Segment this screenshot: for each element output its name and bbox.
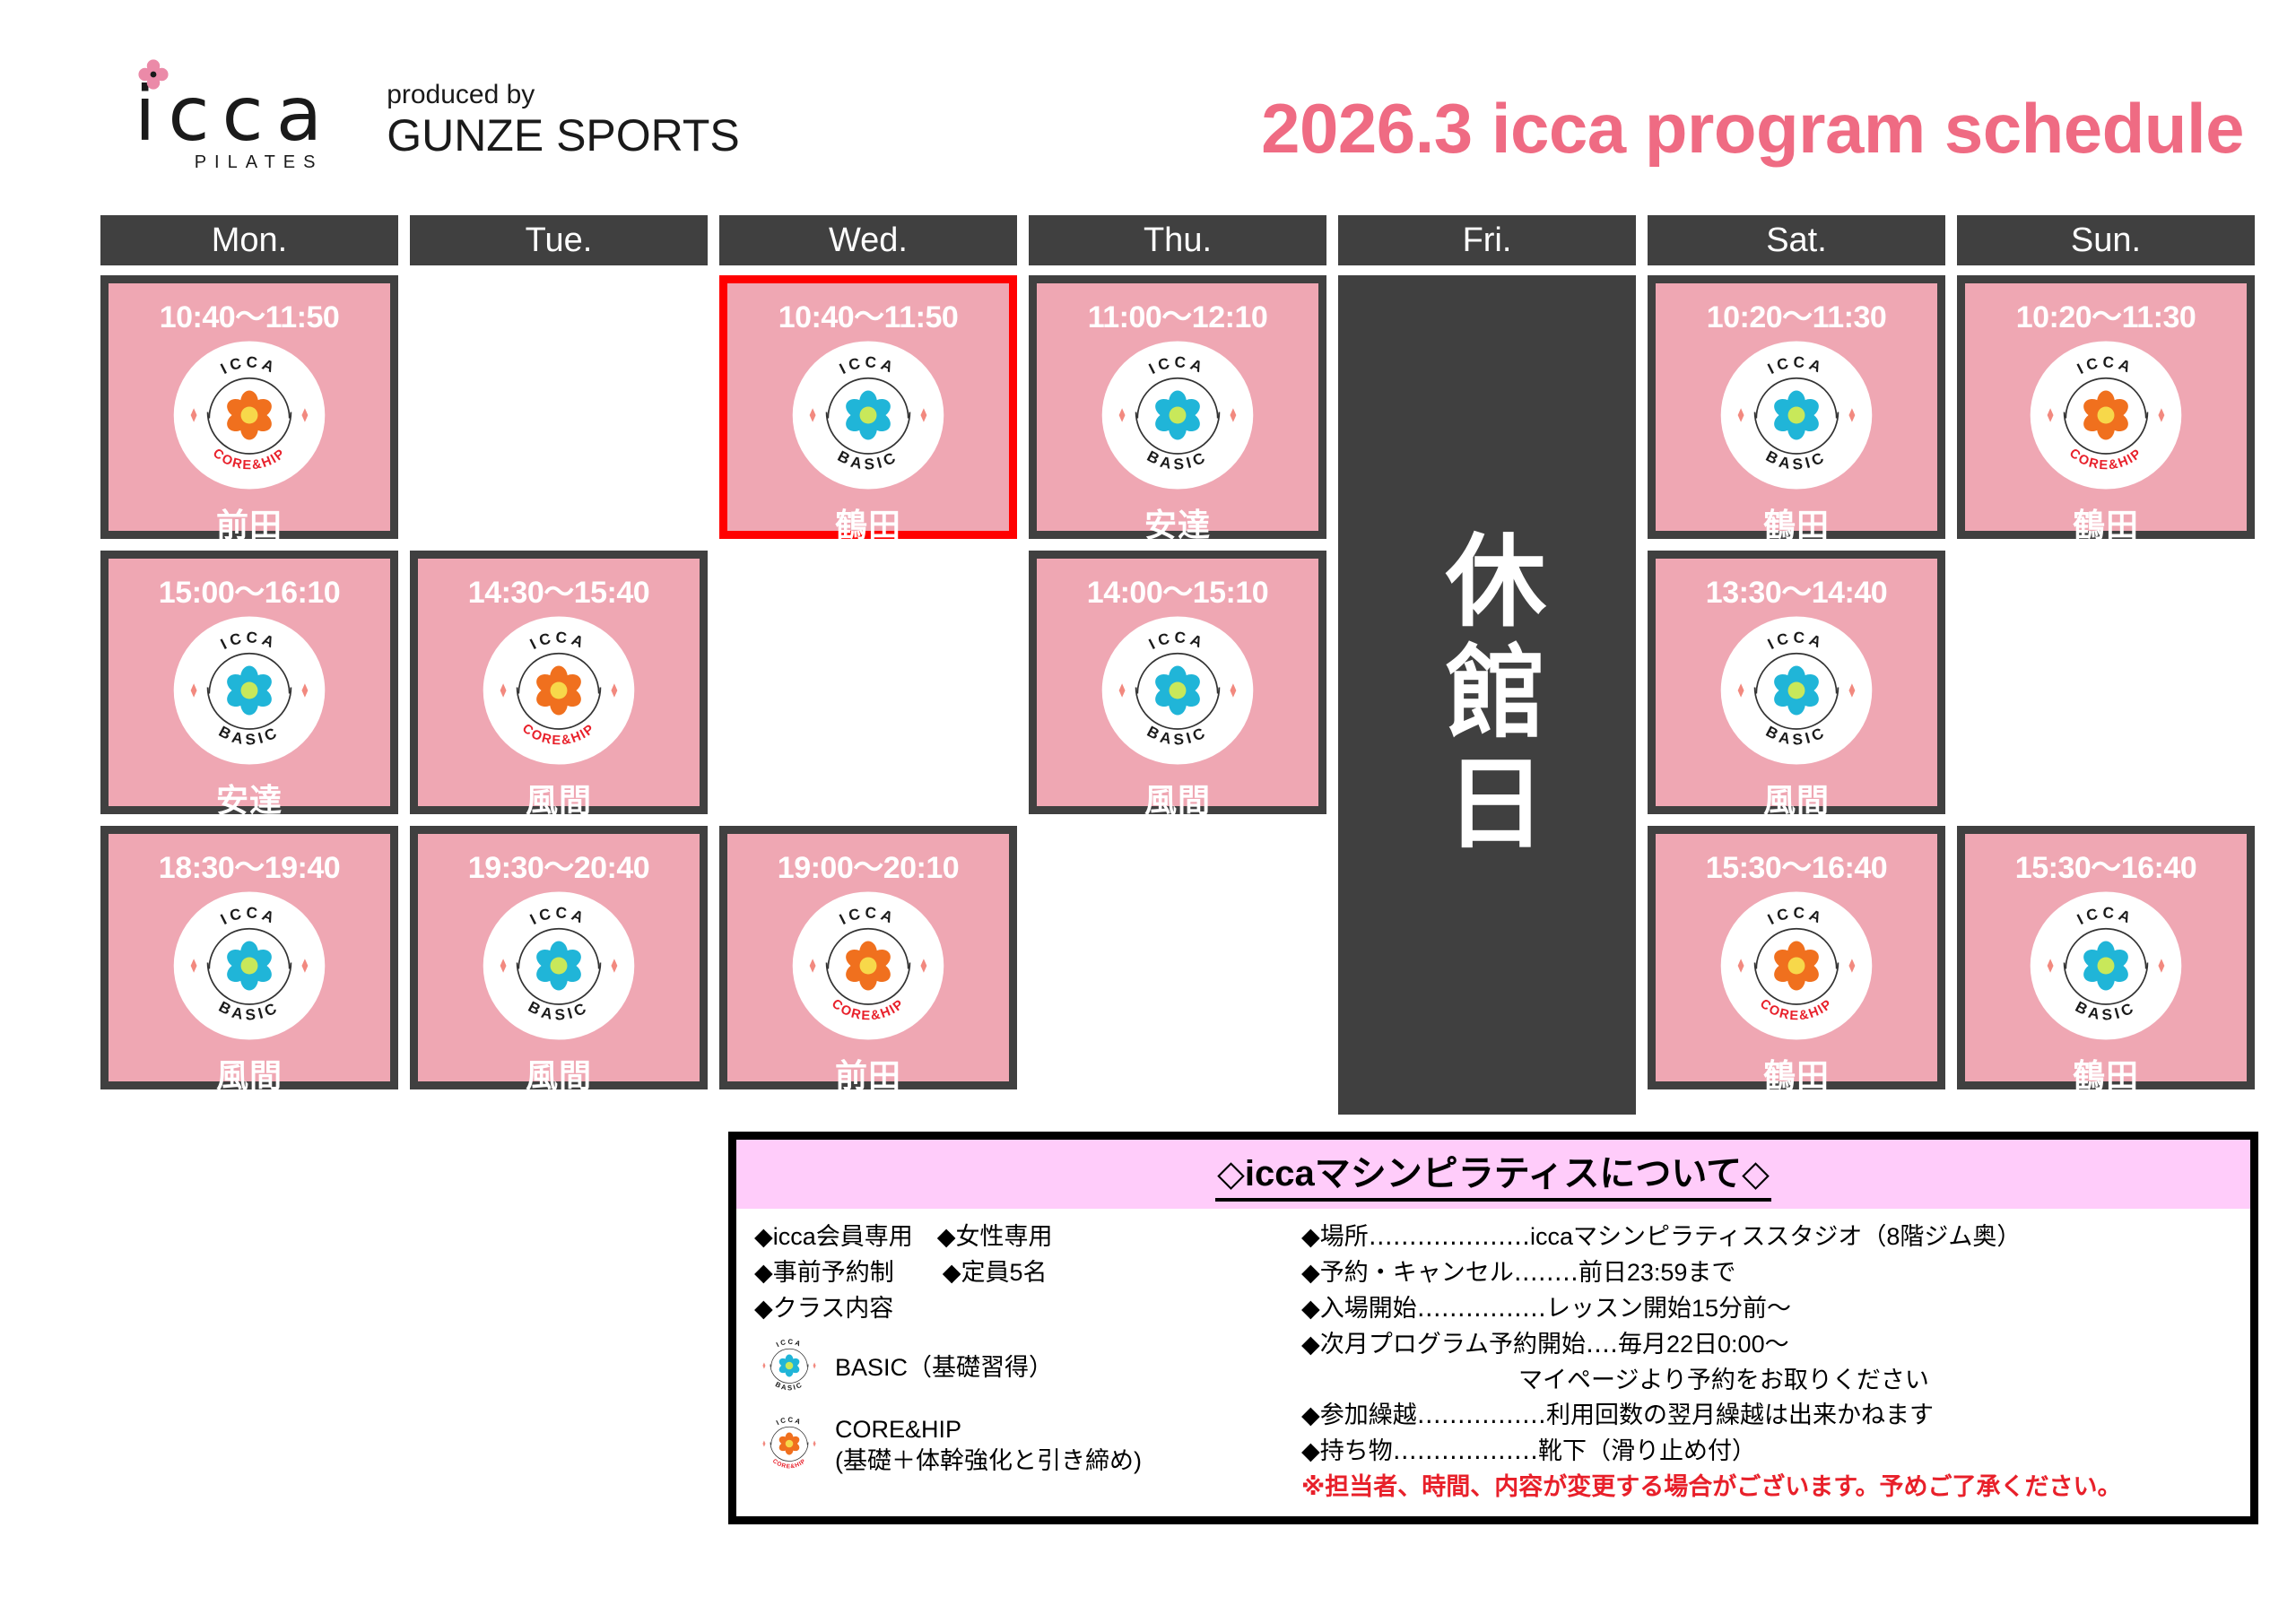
program-badge-basic-icon: ICCA BASIC	[1100, 338, 1255, 497]
class-card-inner: 10:20～11:30 ICCA BASIC 鶴田	[1656, 283, 1937, 531]
program-badge-corehip-icon: ICCA CORE&HIP	[1719, 889, 1874, 1047]
instructor-name: 風間	[1763, 775, 1830, 821]
empty-slot	[1957, 551, 2255, 814]
day-column-tue: Tue.14:30～15:40 ICCA CORE&HIP 風間19:30～20…	[410, 215, 708, 1115]
day-header: Tue.	[410, 215, 708, 265]
class-time: 11:00～12:10	[1088, 292, 1268, 336]
class-time: 10:20～11:30	[1707, 292, 1887, 336]
day-column-sun: Sun.10:20～11:30 ICCA CORE&HIP 鶴田15:30～16…	[1957, 215, 2255, 1115]
class-time: 15:30～16:40	[2015, 843, 2196, 887]
info-warning-note: ※担当者、時間、内容が変更する場合がございます。予めご了承ください。	[1301, 1470, 2250, 1506]
class-time: 15:30～16:40	[1706, 843, 1887, 887]
info-line: ◆参加繰越‥‥‥‥‥‥‥‥利用回数の翌月繰越は出来かねます	[1301, 1398, 2250, 1434]
info-line: ◆持ち物‥‥‥‥‥‥‥‥‥靴下（滑り止め付）	[1301, 1434, 2250, 1470]
class-card[interactable]: 14:30～15:40 ICCA CORE&HIP 風間	[410, 551, 708, 814]
program-badge-corehip-icon: ICCA CORE&HIP	[482, 613, 636, 772]
class-time: 13:30～14:40	[1706, 568, 1887, 612]
class-card[interactable]: 19:00～20:10 ICCA CORE&HIP 前田	[719, 826, 1017, 1089]
day-column-sat: Sat.10:20～11:30 ICCA BASIC 鶴田13:30～14:40…	[1648, 215, 1945, 1115]
class-card-inner: 10:40～11:50 ICCA CORE&HIP 前田	[109, 283, 390, 531]
info-line: ◆事前予約制 ◆定員5名	[754, 1255, 1292, 1291]
legend-badge-corehip-icon: ICCA CORE&HIP	[754, 1409, 824, 1483]
class-time: 14:00～15:10	[1087, 568, 1268, 612]
instructor-name: 鶴田	[2073, 1050, 2139, 1097]
program-badge-basic-icon: ICCA BASIC	[791, 338, 945, 497]
instructor-name: 風間	[526, 775, 592, 821]
legend-text: BASIC（基礎習得）	[835, 1352, 1053, 1384]
class-time: 15:00～16:10	[159, 568, 340, 612]
flower-icon	[138, 59, 169, 90]
class-time: 19:30～20:40	[468, 843, 649, 887]
class-card-inner: 19:00～20:10 ICCA CORE&HIP 前田	[727, 834, 1009, 1081]
instructor-name: 風間	[216, 1050, 283, 1097]
class-card-inner: 10:20～11:30 ICCA CORE&HIP 鶴田	[1965, 283, 2247, 531]
closed-day-cell: 休館日	[1338, 275, 1636, 1115]
info-line: ◆次月プログラム予約開始‥‥毎月22日0:00～	[1301, 1327, 2250, 1363]
info-line: ◆クラス内容	[754, 1291, 1292, 1327]
day-class-list: 10:40～11:50 ICCA BASIC 鶴田19:00～20:10 ICC…	[719, 275, 1017, 1089]
class-card-inner: 10:40～11:50 ICCA BASIC 鶴田	[727, 283, 1009, 531]
info-box-title: ◇iccaマシンピラティスについて◇	[1215, 1144, 1771, 1202]
legend-text: CORE&HIP(基礎＋体幹強化と引き締め)	[835, 1414, 1142, 1477]
day-header: Sat.	[1648, 215, 1945, 265]
info-line: ◆予約・キャンセル‥‥‥‥前日23:59まで	[1301, 1255, 2250, 1291]
class-time: 19:00～20:10	[778, 843, 959, 887]
day-header: Sun.	[1957, 215, 2255, 265]
program-badge-basic-icon: ICCA BASIC	[172, 889, 326, 1047]
day-class-list: 10:20～11:30 ICCA CORE&HIP 鶴田15:30～16:40 …	[1957, 275, 2255, 1089]
day-column-mon: Mon.10:40～11:50 ICCA CORE&HIP 前田15:00～16…	[100, 215, 398, 1115]
class-card[interactable]: 15:00～16:10 ICCA BASIC 安達	[100, 551, 398, 814]
legend-badge-basic-icon: ICCA BASIC	[754, 1331, 824, 1405]
program-badge-corehip-icon: ICCA CORE&HIP	[2029, 338, 2183, 497]
instructor-name: 鶴田	[835, 499, 901, 546]
page-header: icca PILATES produced by GUNZE SPORTS 20…	[0, 72, 2296, 197]
day-header: Thu.	[1029, 215, 1326, 265]
program-badge-basic-icon: ICCA BASIC	[1719, 613, 1874, 772]
class-card-inner: 15:00～16:10 ICCA BASIC 安達	[109, 559, 390, 806]
day-column-thu: Thu.11:00～12:10 ICCA BASIC 安達14:00～15:10…	[1029, 215, 1326, 1115]
class-card[interactable]: 10:20～11:30 ICCA CORE&HIP 鶴田	[1957, 275, 2255, 539]
icca-logotype: icca PILATES	[135, 79, 335, 173]
class-card[interactable]: 15:30～16:40 ICCA CORE&HIP 鶴田	[1648, 826, 1945, 1089]
instructor-name: 前田	[216, 499, 283, 546]
info-sub-line: マイページより予約をお取りください	[1301, 1363, 2250, 1398]
produced-by-block: produced by GUNZE SPORTS	[387, 80, 740, 173]
parent-brand-name: GUNZE SPORTS	[387, 111, 740, 161]
class-card[interactable]: 14:00～15:10 ICCA BASIC 風間	[1029, 551, 1326, 814]
program-badge-basic-icon: ICCA BASIC	[172, 613, 326, 772]
produced-by-label: produced by	[387, 80, 740, 111]
legend-sublabel: (基礎＋体幹強化と引き締め)	[835, 1445, 1142, 1477]
day-header: Mon.	[100, 215, 398, 265]
instructor-name: 安達	[216, 775, 283, 821]
class-card[interactable]: 13:30～14:40 ICCA BASIC 風間	[1648, 551, 1945, 814]
day-column-wed: Wed.10:40～11:50 ICCA BASIC 鶴田19:00～20:10…	[719, 215, 1017, 1115]
legend-label: CORE&HIP	[835, 1414, 1142, 1445]
program-badge-corehip-icon: ICCA CORE&HIP	[791, 889, 945, 1047]
day-class-list: 10:20～11:30 ICCA BASIC 鶴田13:30～14:40 ICC…	[1648, 275, 1945, 1089]
page-title: 2026.3 icca program schedule	[1261, 88, 2244, 169]
class-card[interactable]: 10:20～11:30 ICCA BASIC 鶴田	[1648, 275, 1945, 539]
class-time: 10:20～11:30	[2016, 292, 2196, 336]
class-time: 14:30～15:40	[468, 568, 649, 612]
weekly-schedule-grid: Mon.10:40～11:50 ICCA CORE&HIP 前田15:00～16…	[100, 215, 2260, 1115]
brand-logo: icca PILATES produced by GUNZE SPORTS	[135, 79, 740, 173]
class-card-inner: 13:30～14:40 ICCA BASIC 風間	[1656, 559, 1937, 806]
instructor-name: 風間	[526, 1050, 592, 1097]
legend-item: ICCA CORE&HIP CORE&HIP(基礎＋体幹強化と引き締め)	[754, 1409, 1292, 1483]
class-card[interactable]: 11:00～12:10 ICCA BASIC 安達	[1029, 275, 1326, 539]
class-card[interactable]: 15:30～16:40 ICCA BASIC 鶴田	[1957, 826, 2255, 1089]
empty-slot	[410, 275, 708, 539]
class-card[interactable]: 18:30～19:40 ICCA BASIC 風間	[100, 826, 398, 1089]
program-badge-basic-icon: ICCA BASIC	[1100, 613, 1255, 772]
class-card-inner: 14:30～15:40 ICCA CORE&HIP 風間	[418, 559, 700, 806]
day-class-list: 14:30～15:40 ICCA CORE&HIP 風間19:30～20:40 …	[410, 275, 708, 1089]
class-card[interactable]: 10:40～11:50 ICCA CORE&HIP 前田	[100, 275, 398, 539]
program-badge-basic-icon: ICCA BASIC	[1719, 338, 1874, 497]
program-badge-basic-icon: ICCA BASIC	[482, 889, 636, 1047]
program-badge-basic-icon: ICCA BASIC	[2029, 889, 2183, 1047]
day-header: Wed.	[719, 215, 1017, 265]
class-card-inner: 11:00～12:10 ICCA BASIC 安達	[1037, 283, 1318, 531]
class-time: 18:30～19:40	[159, 843, 340, 887]
class-card-inner: 15:30～16:40 ICCA CORE&HIP 鶴田	[1656, 834, 1937, 1081]
class-card-inner: 19:30～20:40 ICCA BASIC 風間	[418, 834, 700, 1081]
day-column-fri: Fri.休館日	[1338, 215, 1636, 1115]
info-line: ◆場所‥‥‥‥‥‥‥‥‥‥iccaマシンピラティススタジオ（8階ジム奥）	[1301, 1219, 2250, 1255]
instructor-name: 前田	[835, 1050, 901, 1097]
info-line: ◆入場開始‥‥‥‥‥‥‥‥レッスン開始15分前～	[1301, 1291, 2250, 1327]
class-card[interactable]: 19:30～20:40 ICCA BASIC 風間	[410, 826, 708, 1089]
instructor-name: 鶴田	[2073, 499, 2139, 546]
info-line: ◆icca会員専用 ◆女性専用	[754, 1219, 1292, 1255]
day-class-list: 11:00～12:10 ICCA BASIC 安達14:00～15:10 ICC…	[1029, 275, 1326, 814]
class-time: 10:40～11:50	[778, 292, 959, 336]
closed-day-label: 休館日	[1434, 528, 1540, 862]
legend-item: ICCA BASIC BASIC（基礎習得）	[754, 1331, 1292, 1405]
instructor-name: 鶴田	[1763, 1050, 1830, 1097]
instructor-name: 風間	[1144, 775, 1211, 821]
info-right-column: ◆場所‥‥‥‥‥‥‥‥‥‥iccaマシンピラティススタジオ（8階ジム奥） ◆予約…	[1292, 1219, 2250, 1506]
class-card-inner: 14:00～15:10 ICCA BASIC 風間	[1037, 559, 1318, 806]
class-card[interactable]: 10:40～11:50 ICCA BASIC 鶴田	[719, 275, 1017, 539]
empty-slot	[719, 551, 1017, 814]
info-box: ◇iccaマシンピラティスについて◇ ◆icca会員専用 ◆女性専用 ◆事前予約…	[728, 1132, 2258, 1524]
info-box-header: ◇iccaマシンピラティスについて◇	[736, 1140, 2250, 1209]
class-legend: ICCA BASIC BASIC（基礎習得） ICCA CORE&HIP COR…	[754, 1331, 1292, 1483]
instructor-name: 安達	[1144, 499, 1211, 546]
day-class-list: 10:40～11:50 ICCA CORE&HIP 前田15:00～16:10 …	[100, 275, 398, 1089]
class-card-inner: 18:30～19:40 ICCA BASIC 風間	[109, 834, 390, 1081]
class-card-inner: 15:30～16:40 ICCA BASIC 鶴田	[1965, 834, 2247, 1081]
info-left-column: ◆icca会員専用 ◆女性専用 ◆事前予約制 ◆定員5名 ◆クラス内容 ICCA…	[736, 1219, 1292, 1506]
instructor-name: 鶴田	[1763, 499, 1830, 546]
schedule-page: icca PILATES produced by GUNZE SPORTS 20…	[0, 0, 2296, 1623]
legend-label: BASIC（基礎習得）	[835, 1352, 1053, 1384]
day-header: Fri.	[1338, 215, 1636, 265]
class-time: 10:40～11:50	[160, 292, 340, 336]
program-badge-corehip-icon: ICCA CORE&HIP	[172, 338, 326, 497]
